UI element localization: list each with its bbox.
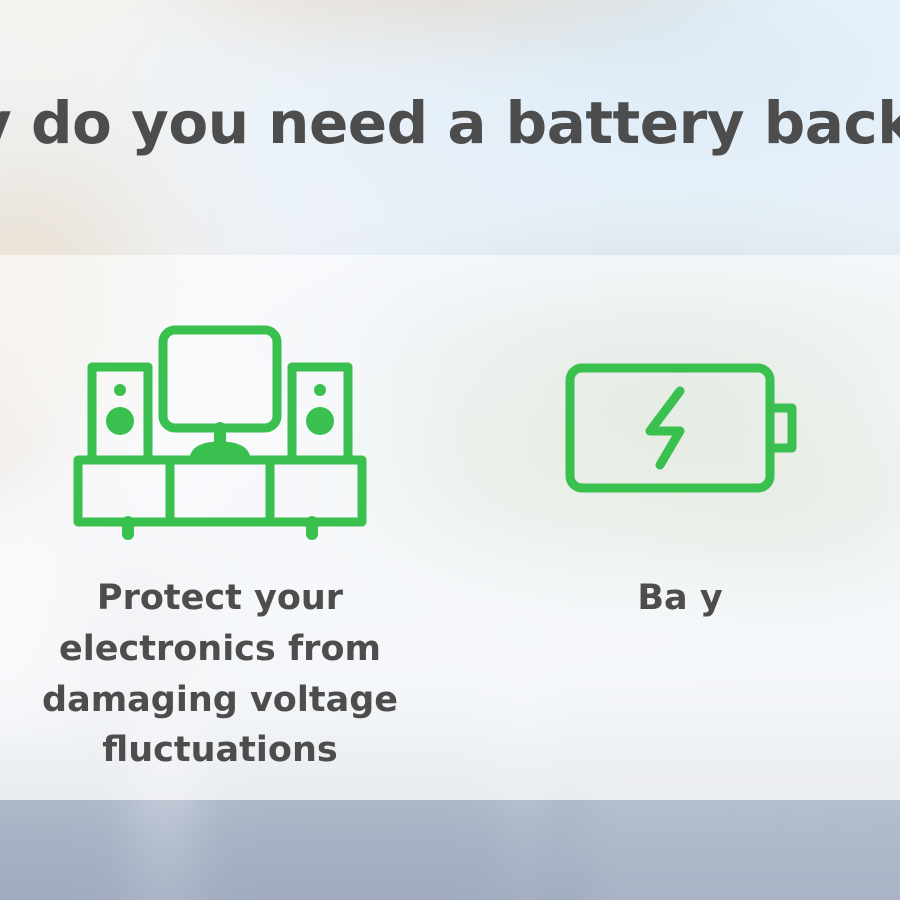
feature-column-battery: Ba y (450, 255, 900, 624)
feature-caption-battery: Ba y (465, 573, 895, 624)
left-speaker-woofer (106, 407, 134, 435)
tv-screen (163, 330, 277, 428)
right-speaker-woofer (306, 407, 334, 435)
feature-caption-electronics: Protect your electronics from damaging v… (5, 573, 435, 776)
home-entertainment-svg (70, 313, 370, 543)
left-speaker-tweeter (114, 384, 126, 396)
feature-columns: Protect your electronics from damaging v… (0, 255, 900, 800)
infographic-slide: Why do you need a battery backup? (0, 0, 900, 900)
battery-bolt (650, 391, 680, 465)
page-title: Why do you need a battery backup? (0, 92, 900, 155)
battery-backup-svg (530, 313, 830, 543)
media-console (78, 460, 362, 522)
right-speaker-tweeter (314, 384, 326, 396)
home-entertainment-icon (70, 303, 370, 553)
battery-backup-icon (530, 303, 830, 553)
feature-column-electronics: Protect your electronics from damaging v… (0, 255, 450, 776)
